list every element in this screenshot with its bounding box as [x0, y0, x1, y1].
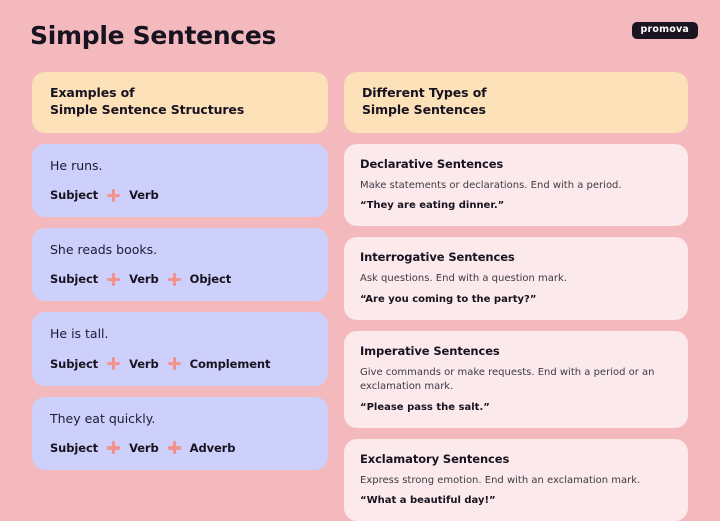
sentence-type-card[interactable]: Interrogative Sentences Ask questions. E…	[344, 237, 688, 319]
sentence-type-title: Declarative Sentences	[360, 157, 672, 172]
plus-icon	[168, 357, 181, 370]
sentence-type-example: “Please pass the salt.”	[360, 401, 672, 415]
sentence-type-card[interactable]: Declarative Sentences Make statements or…	[344, 144, 688, 226]
structure-parts: Subject Verb Object	[50, 272, 310, 286]
structure-card[interactable]: They eat quickly. Subject Verb Adverb	[32, 397, 328, 470]
structure-parts: Subject Verb Complement	[50, 357, 310, 371]
structure-example-sentence: He is tall.	[50, 326, 310, 342]
plus-icon	[107, 189, 120, 202]
structure-part: Verb	[129, 272, 159, 286]
structure-parts: Subject Verb	[50, 188, 310, 202]
structure-part: Adverb	[190, 441, 236, 455]
structure-part: Subject	[50, 188, 98, 202]
plus-icon	[107, 273, 120, 286]
structure-parts: Subject Verb Adverb	[50, 441, 310, 455]
left-header-line-1: Examples of	[50, 85, 310, 102]
plus-icon	[107, 357, 120, 370]
plus-icon	[168, 273, 181, 286]
sentence-type-description: Give commands or make requests. End with…	[360, 366, 672, 395]
sentence-type-description: Make statements or declarations. End wit…	[360, 179, 672, 194]
plus-icon	[168, 441, 181, 454]
structure-part: Verb	[129, 188, 159, 202]
sentence-type-description: Express strong emotion. End with an excl…	[360, 474, 672, 489]
page-title: Simple Sentences	[30, 22, 276, 50]
structure-card[interactable]: He runs. Subject Verb	[32, 144, 328, 217]
structure-part: Object	[190, 272, 231, 286]
sentence-type-title: Interrogative Sentences	[360, 250, 672, 265]
sentence-type-example: “What a beautiful day!”	[360, 494, 672, 508]
left-header-line-2: Simple Sentence Structures	[50, 102, 310, 119]
structure-card[interactable]: She reads books. Subject Verb Object	[32, 228, 328, 301]
right-header-line-2: Simple Sentences	[362, 102, 670, 119]
structure-part: Verb	[129, 357, 159, 371]
structure-card[interactable]: He is tall. Subject Verb Complement	[32, 312, 328, 385]
infographic-poster: Simple Sentences promova Examples of Sim…	[0, 0, 720, 480]
structure-example-sentence: He runs.	[50, 158, 310, 174]
right-column-header: Different Types of Simple Sentences	[344, 72, 688, 133]
structure-example-sentence: She reads books.	[50, 242, 310, 258]
brand-logo: promova	[632, 22, 698, 39]
sentence-type-card[interactable]: Imperative Sentences Give commands or ma…	[344, 331, 688, 428]
left-column: Examples of Simple Sentence Structures H…	[32, 72, 328, 470]
sentence-type-title: Exclamatory Sentences	[360, 452, 672, 467]
sentence-type-example: “They are eating dinner.”	[360, 199, 672, 213]
sentence-type-description: Ask questions. End with a question mark.	[360, 272, 672, 287]
structure-example-sentence: They eat quickly.	[50, 411, 310, 427]
structure-part: Subject	[50, 357, 98, 371]
right-column: Different Types of Simple Sentences Decl…	[344, 72, 688, 521]
left-column-header: Examples of Simple Sentence Structures	[32, 72, 328, 133]
sentence-type-title: Imperative Sentences	[360, 344, 672, 359]
structure-part: Subject	[50, 441, 98, 455]
right-header-line-1: Different Types of	[362, 85, 670, 102]
sentence-type-example: “Are you coming to the party?”	[360, 293, 672, 307]
structure-part: Complement	[190, 357, 271, 371]
plus-icon	[107, 441, 120, 454]
structure-part: Verb	[129, 441, 159, 455]
structure-part: Subject	[50, 272, 98, 286]
